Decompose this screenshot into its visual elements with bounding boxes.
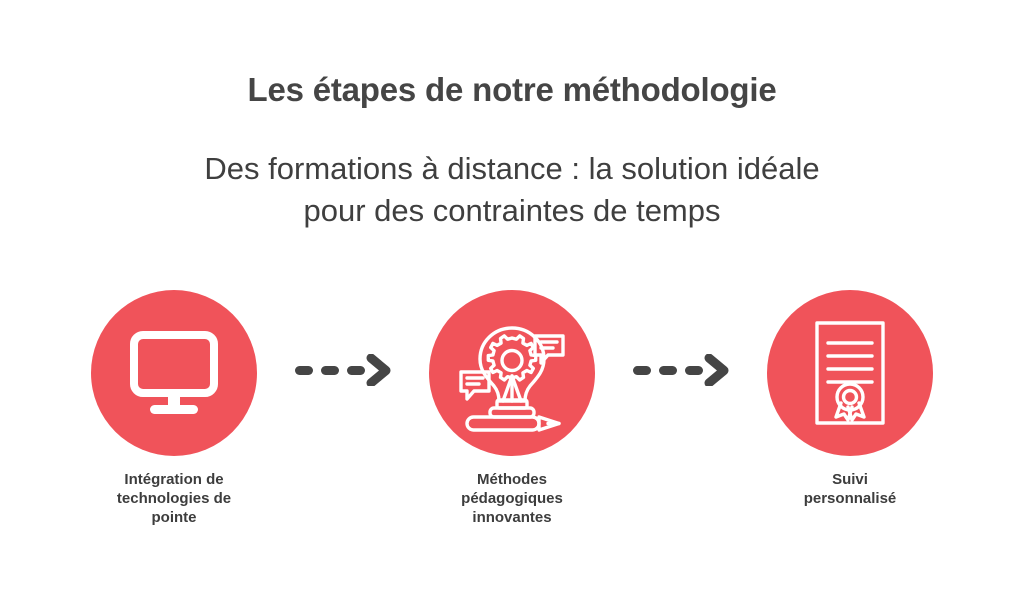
desktop-monitor-icon: [122, 321, 226, 425]
step-3-label-line-1: Suivi: [755, 471, 945, 490]
step-3-label: Suivi personnalisé: [755, 471, 945, 509]
dashed-arrow-right-icon: [631, 354, 731, 391]
page-subtitle: Des formations à distance : la solution …: [0, 148, 1024, 232]
dashed-arrow-right-icon: [293, 354, 393, 391]
methodology-steps-slide: Les étapes de notre méthodologie Des for…: [0, 0, 1024, 598]
connector-2: [620, 354, 742, 391]
page-title: Les étapes de notre méthodologie: [0, 70, 1024, 110]
step-1-label-line-1: Intégration de: [79, 471, 269, 490]
certificate-award-icon: [798, 317, 902, 429]
lightbulb-gear-idea-icon: [453, 314, 571, 432]
step-3-icon-badge: [767, 290, 933, 456]
subtitle-line-2: pour des contraintes de temps: [0, 190, 1024, 232]
step-2-label: Méthodes pédagogiques innovantes: [417, 471, 607, 527]
subtitle-line-1: Des formations à distance : la solution …: [0, 148, 1024, 190]
step-item-2: Méthodes pédagogiques innovantes: [404, 290, 620, 527]
step-3-label-line-2: personnalisé: [755, 490, 945, 509]
steps-row: Intégration de technologies de pointe: [0, 290, 1024, 527]
step-2-label-line-1: Méthodes: [417, 471, 607, 490]
step-2-icon-badge: [429, 290, 595, 456]
step-item-3: Suivi personnalisé: [742, 290, 958, 509]
step-1-label-line-3: pointe: [79, 509, 269, 528]
step-1-label: Intégration de technologies de pointe: [79, 471, 269, 527]
step-1-label-line-2: technologies de: [79, 490, 269, 509]
step-1-icon-badge: [91, 290, 257, 456]
step-2-label-line-2: pédagogiques: [417, 490, 607, 509]
step-2-label-line-3: innovantes: [417, 509, 607, 528]
connector-1: [282, 354, 404, 391]
step-item-1: Intégration de technologies de pointe: [66, 290, 282, 527]
